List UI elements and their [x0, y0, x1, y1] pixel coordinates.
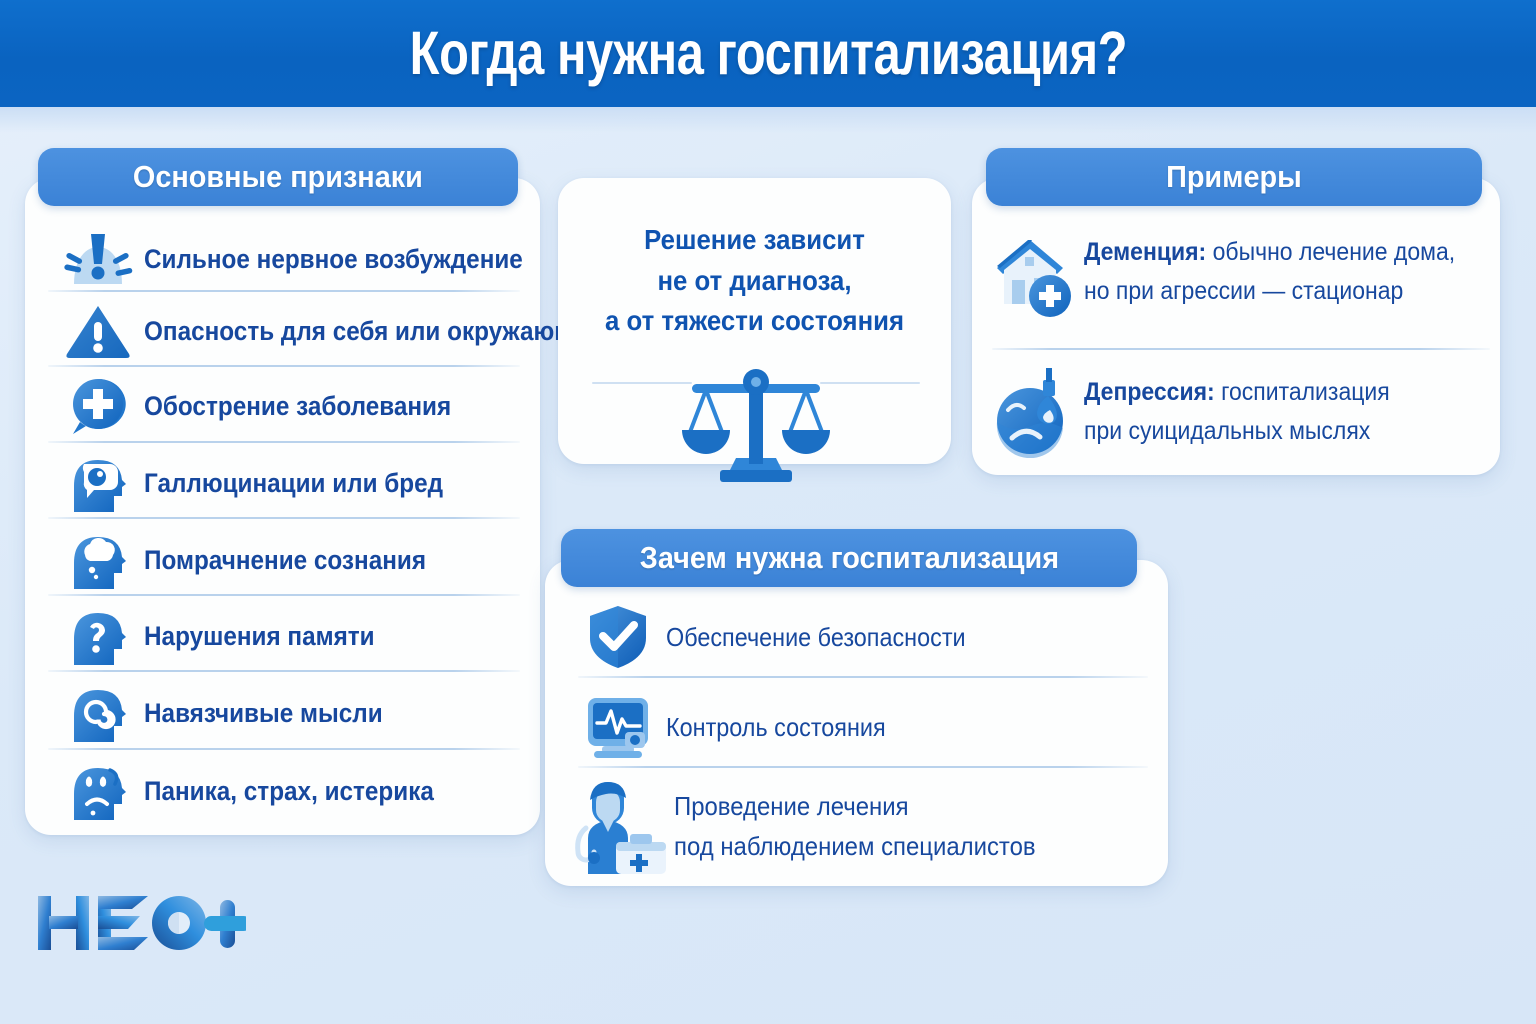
list-item[interactable]: Паника, страх, истерика [60, 760, 530, 822]
example-line-1-rest: обычно лечение дома, [1206, 238, 1455, 266]
example-line-2: при суицидальных мыслях [1084, 412, 1390, 451]
signs-panel-header: Основные признаки [38, 148, 518, 206]
header-underglow [0, 107, 1536, 133]
why-item[interactable]: Проведение лечения под наблюдением специ… [570, 776, 1150, 876]
why-item-line-1: Проведение лечения [674, 786, 1036, 826]
example-line-2: но при агрессии — стационар [1084, 272, 1455, 311]
example-item[interactable]: Деменция: обычно лечение дома, но при аг… [992, 222, 1492, 322]
list-item[interactable]: Навязчивые мысли [60, 682, 530, 744]
ecg-monitor-icon [580, 692, 656, 762]
list-item-label: Обострение заболевания [144, 391, 451, 422]
list-item-label: Галлюцинации или бред [144, 468, 443, 499]
list-item[interactable]: Сильное нервное возбуждение [60, 228, 530, 290]
list-divider [48, 365, 520, 367]
head-sad-face-icon [60, 760, 136, 822]
example-text: Депрессия: госпитализация при суицидальн… [1084, 373, 1416, 451]
head-spiral-icon [60, 682, 136, 744]
decision-text: Решение зависит не от диагноза, а от тяж… [558, 220, 951, 342]
list-item[interactable]: Опасность для себя или окружающих [60, 300, 530, 362]
list-divider [48, 517, 520, 519]
list-item[interactable]: Нарушения памяти [60, 605, 530, 667]
examples-panel-header: Примеры [986, 148, 1482, 206]
logo-letter-e [98, 896, 148, 950]
examples-panel-title: Примеры [1166, 159, 1302, 195]
examples-divider [992, 348, 1490, 350]
head-question-icon [60, 605, 136, 667]
why-item[interactable]: Контроль состояния [580, 692, 1150, 762]
example-item[interactable]: Депрессия: госпитализация при суицидальн… [992, 362, 1492, 462]
decision-rule-left [592, 382, 692, 384]
logo-letter-n [38, 896, 89, 950]
list-item-label: Сильное нервное возбуждение [144, 244, 523, 275]
example-line-1-rest: госпитализация [1215, 378, 1390, 406]
decision-line-2: не от диагноза, [574, 261, 936, 302]
list-item[interactable]: Помрачнение сознания [60, 529, 530, 591]
list-divider [48, 594, 520, 596]
why-divider [578, 766, 1148, 768]
why-item-text: Проведение лечения под наблюдением специ… [674, 786, 1067, 867]
why-item-label: Контроль состояния [666, 712, 886, 743]
why-panel-title: Зачем нужна госпитализация [639, 540, 1058, 576]
list-item-label: Помрачнение сознания [144, 545, 426, 576]
logo[interactable] [36, 890, 246, 956]
decision-rule-right [820, 382, 920, 384]
why-divider [578, 676, 1148, 678]
example-text: Деменция: обычно лечение дома, но при аг… [1084, 233, 1487, 311]
scales-balance-icon [678, 360, 834, 482]
list-item[interactable]: Обострение заболевания [60, 375, 530, 437]
medical-cross-bubble-icon [60, 375, 136, 437]
signs-panel-title: Основные признаки [133, 159, 423, 195]
logo-plus [204, 900, 246, 948]
list-divider [48, 748, 520, 750]
list-item-label: Нарушения памяти [144, 621, 375, 652]
logo-letter-o [152, 896, 206, 950]
shield-check-icon [580, 602, 656, 672]
head-eye-icon [60, 452, 136, 514]
infographic-canvas: Когда нужна госпитализация? Основные при… [0, 0, 1536, 1024]
list-item-label: Навязчивые мысли [144, 698, 383, 729]
example-lead: Деменция: [1084, 238, 1206, 266]
doctor-case-icon [570, 776, 668, 876]
head-cloud-icon [60, 529, 136, 591]
list-item[interactable]: Галлюцинации или бред [60, 452, 530, 514]
warning-triangle-icon [60, 300, 136, 362]
list-divider [48, 290, 520, 292]
header-band: Когда нужна госпитализация? [0, 0, 1536, 107]
exclamation-burst-icon [60, 228, 136, 290]
house-medical-icon [992, 226, 1074, 318]
decision-line-1: Решение зависит [574, 220, 936, 261]
why-panel-header: Зачем нужна госпитализация [561, 529, 1137, 587]
why-item[interactable]: Обеспечение безопасности [580, 602, 1150, 672]
why-item-label: Обеспечение безопасности [666, 622, 966, 653]
list-divider [48, 670, 520, 672]
why-item-line-2: под наблюдением специалистов [674, 826, 1036, 866]
example-lead: Депрессия: [1084, 378, 1215, 406]
list-divider [48, 441, 520, 443]
list-item-label: Опасность для себя или окружающих [144, 316, 603, 347]
page-title: Когда нужна госпитализация? [409, 23, 1126, 84]
list-item-label: Паника, страх, истерика [144, 776, 434, 807]
sad-face-teardrop-icon [992, 366, 1074, 458]
decision-line-3: а от тяжести состояния [574, 301, 936, 342]
